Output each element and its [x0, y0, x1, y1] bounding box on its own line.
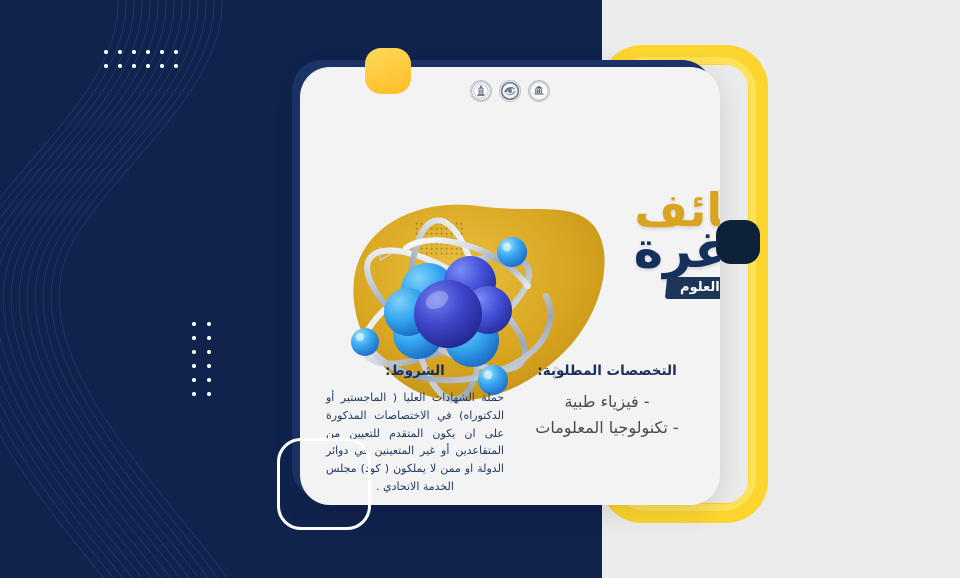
university-seal-logo [499, 80, 521, 102]
list-item: - فيزياء طبية [520, 389, 694, 415]
ministry-seal-logo [470, 80, 492, 102]
college-badge: كلية العلوم [665, 277, 720, 299]
specializations-column: التخصصات المطلوبة: - فيزياء طبية - تكنول… [512, 363, 702, 505]
college-seal-logo [528, 80, 550, 102]
list-item: - تكنولوجيا المعلومات [520, 415, 694, 441]
wave-line-pattern [0, 0, 320, 578]
title-line-2: شاغرة [575, 227, 720, 275]
navy-rounded-dot [716, 220, 760, 264]
poster-title-block: وظائف شاغرة كلية العلوم [575, 187, 720, 299]
specializations-heading: التخصصات المطلوبة: [520, 363, 694, 379]
logos-row [300, 80, 720, 102]
dot-grid-top [104, 50, 178, 72]
college-badge-label: كلية العلوم [680, 280, 720, 295]
dot-grid-left [192, 322, 214, 396]
white-rounded-outline [277, 438, 371, 530]
yellow-rounded-dot [365, 48, 411, 94]
specializations-list: - فيزياء طبية - تكنولوجيا المعلومات [520, 389, 694, 442]
conditions-heading: الشروط: [326, 363, 504, 379]
content-card: وظائف شاغرة كلية العلوم التخصصات المطلوب… [300, 67, 720, 505]
poster-canvas: وظائف شاغرة كلية العلوم التخصصات المطلوب… [0, 0, 960, 578]
